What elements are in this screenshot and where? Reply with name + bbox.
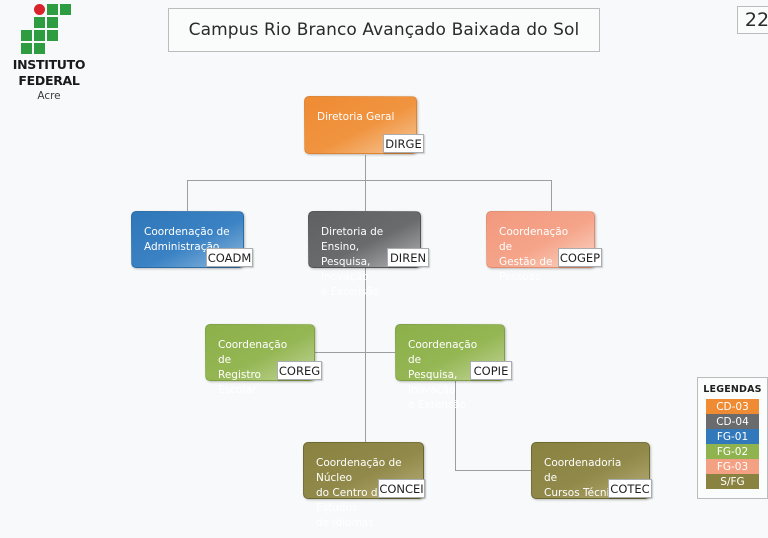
connector-to-coadm — [187, 180, 188, 211]
logo-subtitle: Acre — [6, 90, 92, 102]
page-number: 22 — [737, 6, 768, 34]
legend-item-fg02: FG-02 — [706, 444, 759, 459]
if-logo-mark — [21, 4, 77, 56]
legend-item-cd04: CD-04 — [706, 414, 759, 429]
org-node-acronym-coadm: COADM — [206, 248, 253, 267]
connector-to-diren — [365, 180, 366, 211]
org-node-acronym-cotec: COTEC — [608, 479, 652, 498]
org-node-acronym-cogep: COGEP — [558, 248, 602, 267]
logo-square — [21, 30, 32, 41]
logo-square — [47, 30, 58, 41]
logo-square — [34, 43, 45, 54]
logo-red-dot — [34, 4, 45, 15]
legend-panel: LEGENDAS CD-03 CD-04 FG-01 FG-02 FG-03 S… — [697, 377, 768, 499]
org-node-acronym-dirge: DIRGE — [383, 134, 424, 153]
logo-square — [60, 4, 71, 15]
logo-text-line1: INSTITUTO — [6, 59, 92, 72]
org-chart-canvas: INSTITUTO FEDERAL Acre Campus Rio Branco… — [0, 0, 768, 538]
connector-copie-to-cotec — [455, 470, 531, 471]
logo-text-line2: FEDERAL — [6, 75, 92, 88]
chart-title-box: Campus Rio Branco Avançado Baixada do So… — [168, 8, 600, 52]
legend-item-fg01: FG-01 — [706, 429, 759, 444]
logo-square — [34, 17, 45, 28]
legend-item-fg03: FG-03 — [706, 459, 759, 474]
connector-to-cogep — [551, 180, 552, 211]
connector-dirge-down — [365, 155, 366, 181]
legend-item-cd03: CD-03 — [706, 399, 759, 414]
org-node-acronym-coreg: COREG — [277, 361, 322, 380]
legend-item-sfg: S/FG — [706, 474, 759, 489]
org-node-acronym-concei: CONCEI — [378, 479, 425, 498]
org-node-acronym-copie: COPIE — [470, 361, 512, 380]
page-title: Campus Rio Branco Avançado Baixada do So… — [189, 20, 580, 40]
connector-to-coreg — [315, 352, 365, 353]
org-node-label: Diretoria Geral — [317, 110, 404, 125]
legend-title: LEGENDAS — [698, 384, 767, 395]
institution-logo: INSTITUTO FEDERAL Acre — [6, 4, 92, 102]
org-node-acronym-diren: DIREN — [387, 248, 429, 267]
logo-square — [47, 17, 58, 28]
logo-square — [47, 4, 58, 15]
logo-square — [34, 30, 45, 41]
connector-level2-bus — [187, 180, 551, 181]
logo-square — [21, 43, 32, 54]
